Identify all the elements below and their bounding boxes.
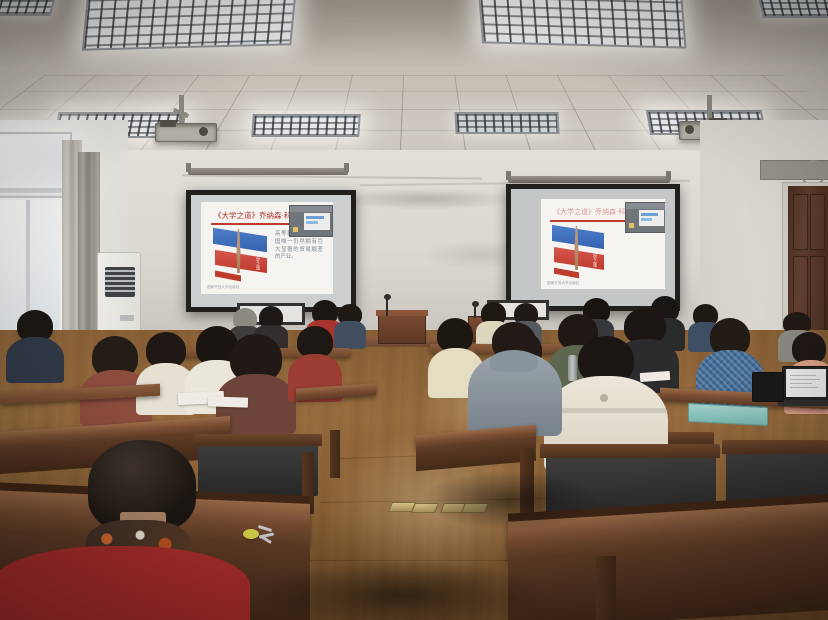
thumbnail-status-dot — [629, 223, 634, 228]
ceiling-light-panel — [454, 112, 559, 134]
screen-canvas: 《大学之道》乔纳森·科尔 大学之道 国家开放大学出版社 — [511, 189, 675, 306]
slide-right: 《大学之道》乔纳森·科尔 大学之道 国家开放大学出版社 — [541, 199, 665, 289]
audience-member — [12, 310, 58, 380]
foreground-person-red-sweater — [0, 440, 270, 620]
lecture-hall-photo: 《大学之道》乔纳森·科尔 大学之道 高等教育可能是美国唯一仍然拥有巨大显著的贸易… — [0, 0, 828, 620]
thumbnail-image — [639, 210, 664, 226]
screen-roller-right — [508, 176, 670, 183]
slide-red-tail — [215, 270, 241, 281]
bench-back — [540, 444, 720, 458]
coat-seam — [548, 408, 666, 413]
video-thumbnail-panel — [625, 202, 665, 233]
screen-bracket — [666, 171, 671, 180]
screen-roller-left — [188, 168, 348, 175]
torso-red-sweater — [0, 546, 250, 620]
microphone — [386, 298, 388, 316]
thumbnail-image — [304, 213, 330, 230]
slide-ribbon-label: 大学之道 — [592, 251, 598, 267]
desk-leg — [330, 430, 340, 478]
window-glass — [0, 136, 64, 188]
screen-bracket — [344, 163, 349, 172]
projection-screen-right: 《大学之道》乔纳森·科尔 大学之道 国家开放大学出版社 — [506, 184, 680, 311]
thumbnail-titlebar — [290, 206, 332, 212]
projection-screen-left: 《大学之道》乔纳森·科尔 大学之道 高等教育可能是美国唯一仍然拥有巨大显著的贸易… — [186, 190, 356, 312]
screen-bracket — [186, 163, 191, 172]
torso — [6, 337, 64, 383]
torso — [334, 321, 366, 349]
laptop[interactable] — [752, 372, 786, 406]
coat-button — [600, 394, 608, 402]
ceiling-light-panel — [0, 0, 57, 16]
slide-ribbon-label: 大学之道 — [255, 254, 261, 270]
desk-leg — [596, 556, 616, 620]
slide-footer: 国家开放大学出版社 — [547, 281, 579, 286]
slide-left: 《大学之道》乔纳森·科尔 大学之道 高等教育可能是美国唯一仍然拥有巨大显著的贸易… — [201, 202, 333, 294]
handout-paper — [208, 396, 248, 407]
bench-back — [722, 440, 828, 454]
ceiling-light-panel — [82, 0, 298, 51]
slide-footer: 国家开放大学出版社 — [207, 285, 239, 290]
slide-title: 《大学之道》乔纳森·科尔 — [214, 210, 299, 221]
hood — [490, 350, 538, 372]
floor-shadow — [250, 560, 550, 620]
screen-bracket — [506, 171, 511, 180]
ceiling-light-panel — [251, 114, 361, 137]
ceiling-projector-left — [155, 95, 225, 145]
wall-smudge — [330, 188, 520, 210]
hair — [437, 318, 473, 352]
audience-member — [336, 304, 364, 348]
slide-title: 《大学之道》乔纳森·科尔 — [553, 207, 632, 217]
thumbnail-status-dot — [293, 227, 298, 232]
ac-vent — [105, 267, 135, 297]
screen-canvas: 《大学之道》乔纳森·科尔 大学之道 高等教育可能是美国唯一仍然拥有巨大显著的贸易… — [191, 195, 351, 307]
video-thumbnail-panel — [289, 205, 333, 237]
window-mullion — [0, 188, 68, 193]
ceiling-light-panel — [757, 0, 828, 18]
ceiling-light-panel — [477, 0, 686, 49]
floor-shadow — [420, 470, 600, 530]
audience-member — [222, 334, 288, 428]
laptop-screen — [786, 369, 826, 397]
ac-badge — [120, 315, 134, 321]
microphone — [474, 305, 476, 318]
audience-member-hoodie — [470, 322, 560, 434]
thumbnail-titlebar — [626, 203, 665, 209]
lectern — [378, 312, 426, 344]
